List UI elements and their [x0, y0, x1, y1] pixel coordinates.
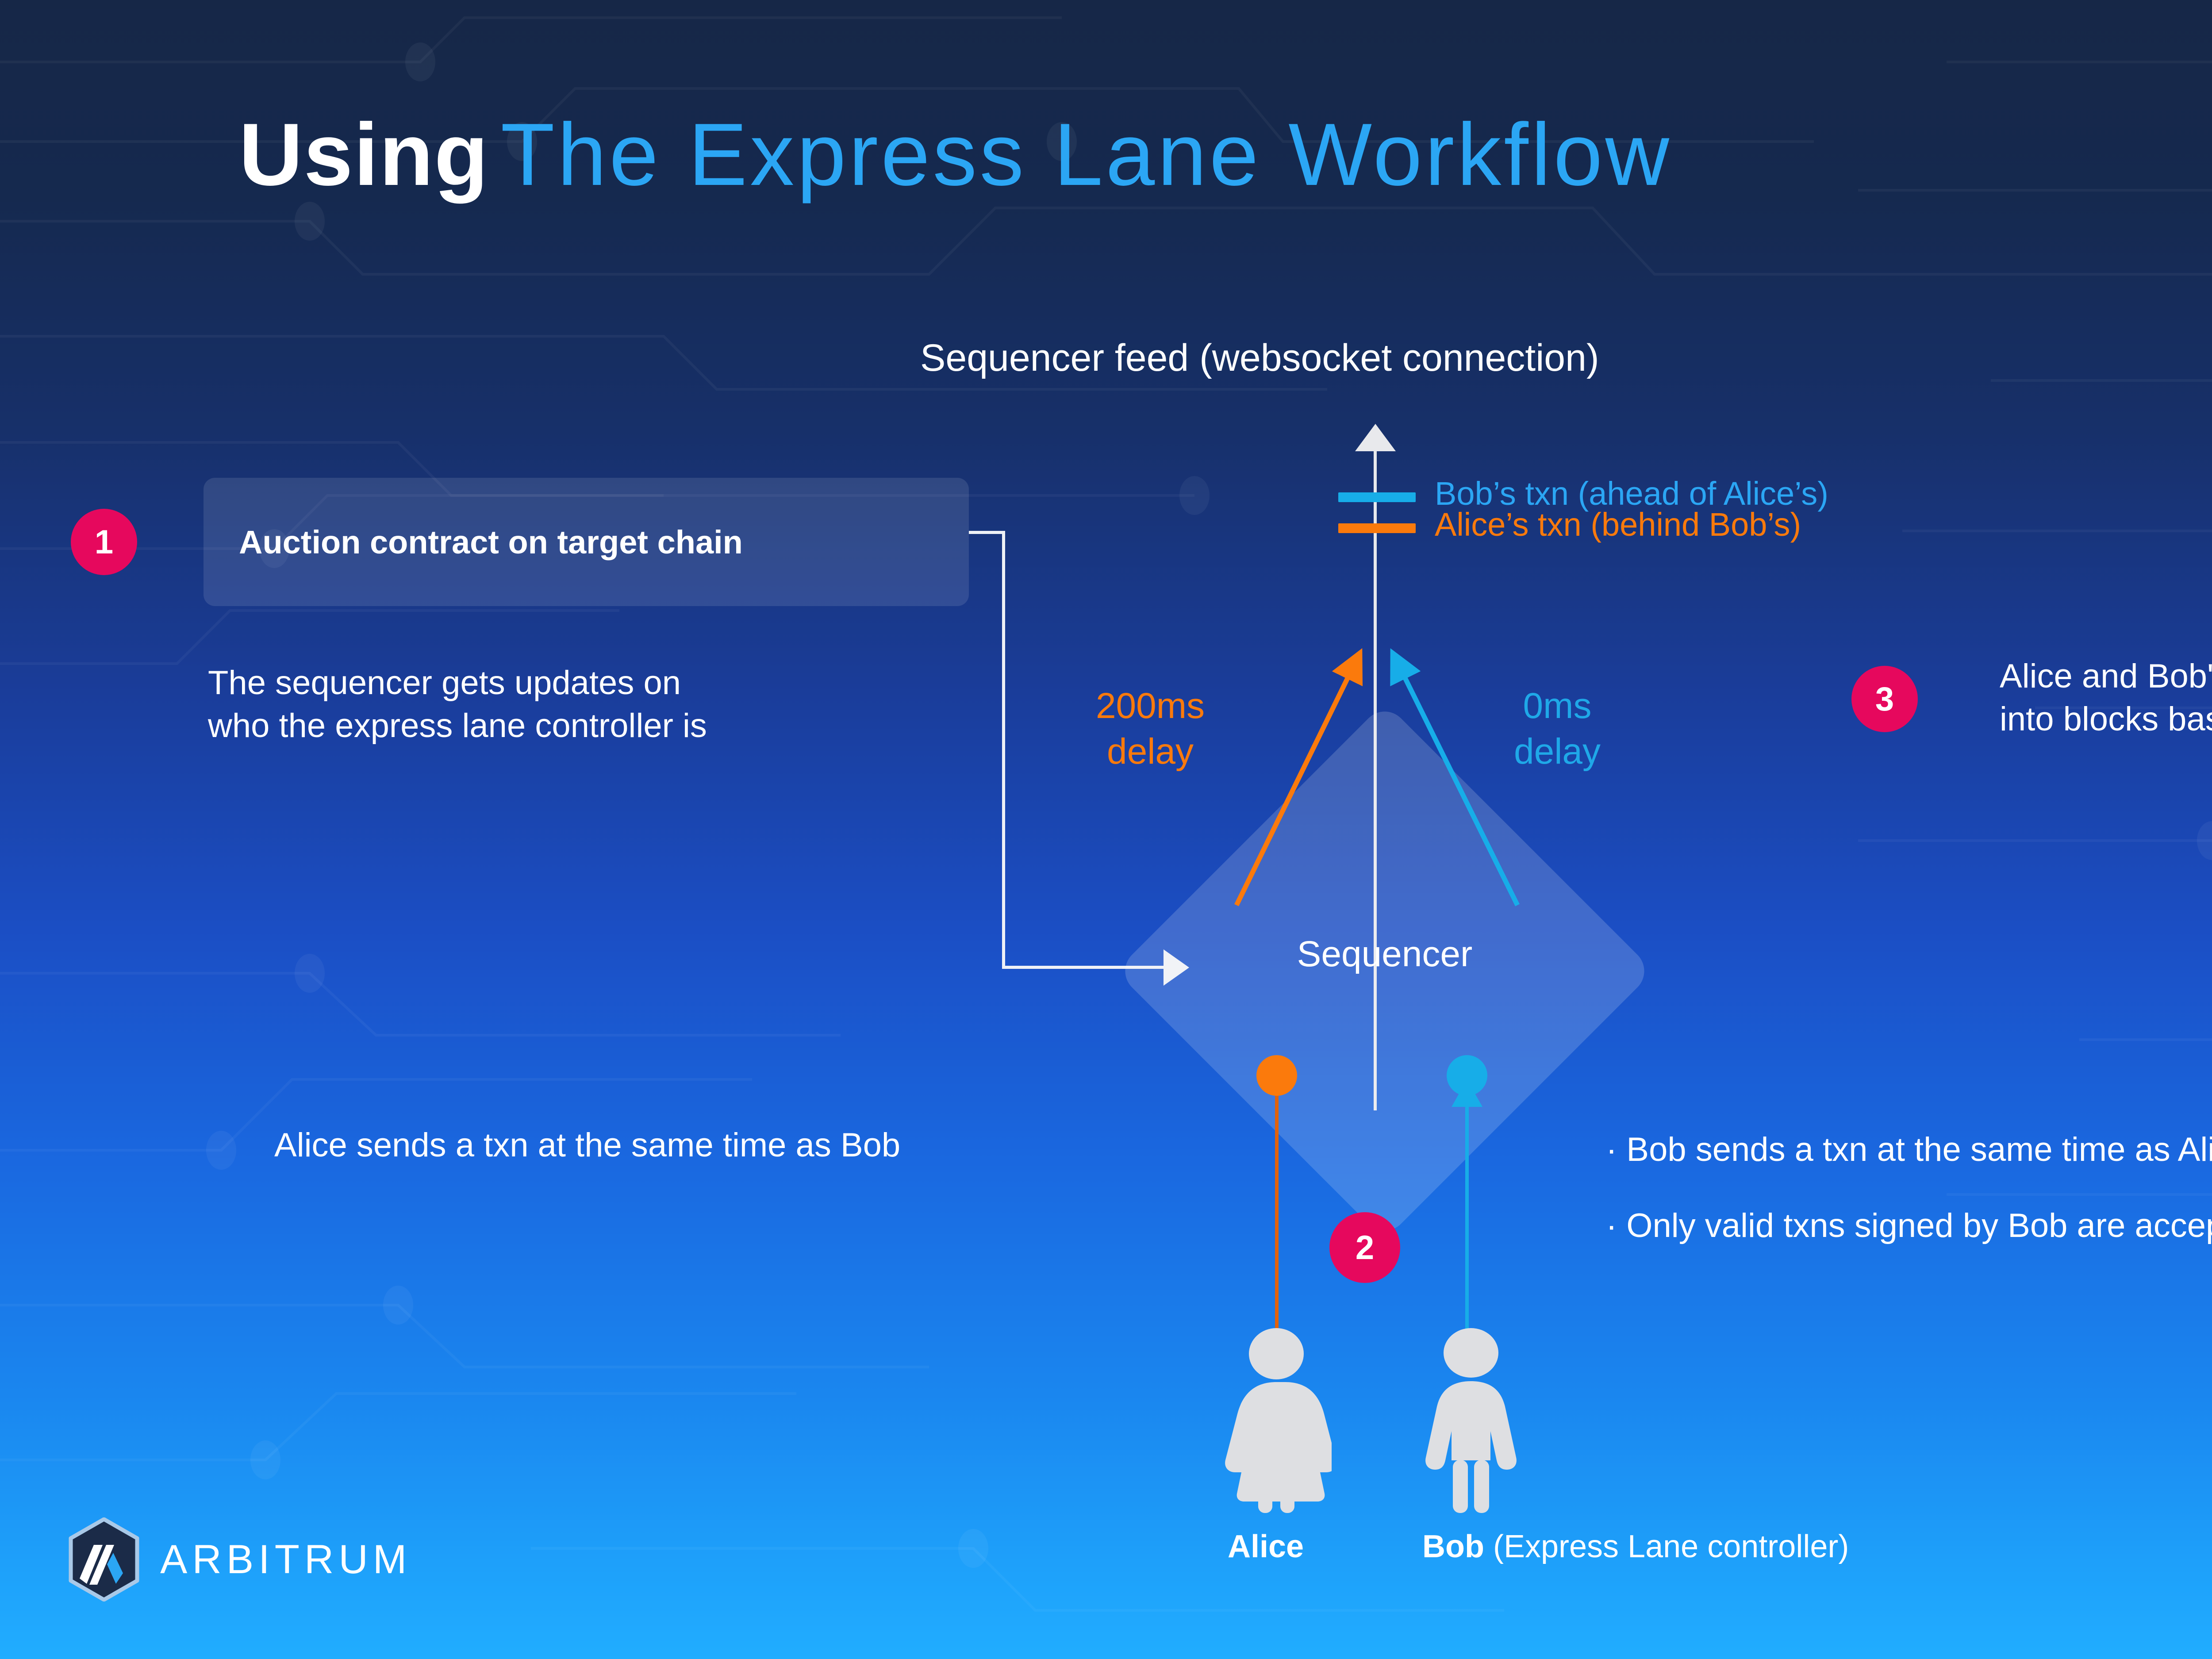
legend-dash-alice-icon: [1338, 523, 1416, 533]
alice-txn-dot: [1256, 1055, 1297, 1096]
step-3-paragraph: Alice and Bob's txns get ordered into bl…: [2000, 655, 2212, 741]
alice-name-label: Alice: [1228, 1528, 1304, 1565]
step-badge-3: 3: [1851, 666, 1918, 732]
connector-segment-vertical: [1002, 531, 1005, 969]
bob-role-label: (Express Lane controller): [1484, 1529, 1849, 1564]
connector-segment-top: [969, 531, 1005, 534]
auction-contract-box: Auction contract on target chain: [204, 478, 969, 606]
legend-label-alice: Alice’s txn (behind Bob’s): [1435, 506, 1801, 543]
page-title: UsingThe Express Lane Workflow: [239, 111, 1672, 199]
delay-label-alice: 200ms delay: [1071, 684, 1230, 774]
step-badge-1: 1: [71, 509, 137, 575]
title-light: The Express Lane Workflow: [501, 105, 1672, 204]
arbitrum-logo: ARBITRUM: [66, 1517, 411, 1601]
bob-name-label: Bob (Express Lane controller): [1422, 1528, 1849, 1565]
bob-txn-dot: [1447, 1055, 1487, 1096]
step-badge-2: 2: [1329, 1212, 1400, 1283]
sequencer-label: Sequencer: [1194, 933, 1575, 975]
alice-person-icon: [1221, 1327, 1332, 1513]
title-strong: Using: [239, 105, 489, 204]
step-1-paragraph: The sequencer gets updates on who the ex…: [208, 661, 707, 748]
sequencer-feed-label: Sequencer feed (websocket connection): [920, 336, 1599, 380]
circuit-background-pattern: [0, 0, 2212, 1659]
bob-name-bold: Bob: [1422, 1529, 1484, 1564]
bob-bullet-list: · Bob sends a txn at the same time as Al…: [1606, 1130, 2212, 1283]
bob-bullet-1: · Bob sends a txn at the same time as Al…: [1606, 1130, 2212, 1169]
infographic-canvas: UsingThe Express Lane Workflow Sequencer…: [0, 0, 2212, 1659]
alice-note: Alice sends a txn at the same time as Bo…: [274, 1124, 900, 1167]
auction-contract-label: Auction contract on target chain: [239, 523, 743, 561]
arbitrum-mark-icon: [66, 1517, 142, 1601]
alice-txn-line: [1275, 1075, 1279, 1336]
arbitrum-wordmark: ARBITRUM: [160, 1536, 411, 1583]
bob-person-icon: [1416, 1327, 1526, 1513]
bob-txn-line: [1465, 1104, 1469, 1338]
delay-label-bob: 0ms delay: [1486, 684, 1628, 774]
legend-dash-bob-icon: [1338, 492, 1416, 502]
bob-bullet-2: · Only valid txns signed by Bob are acce…: [1606, 1206, 2212, 1245]
